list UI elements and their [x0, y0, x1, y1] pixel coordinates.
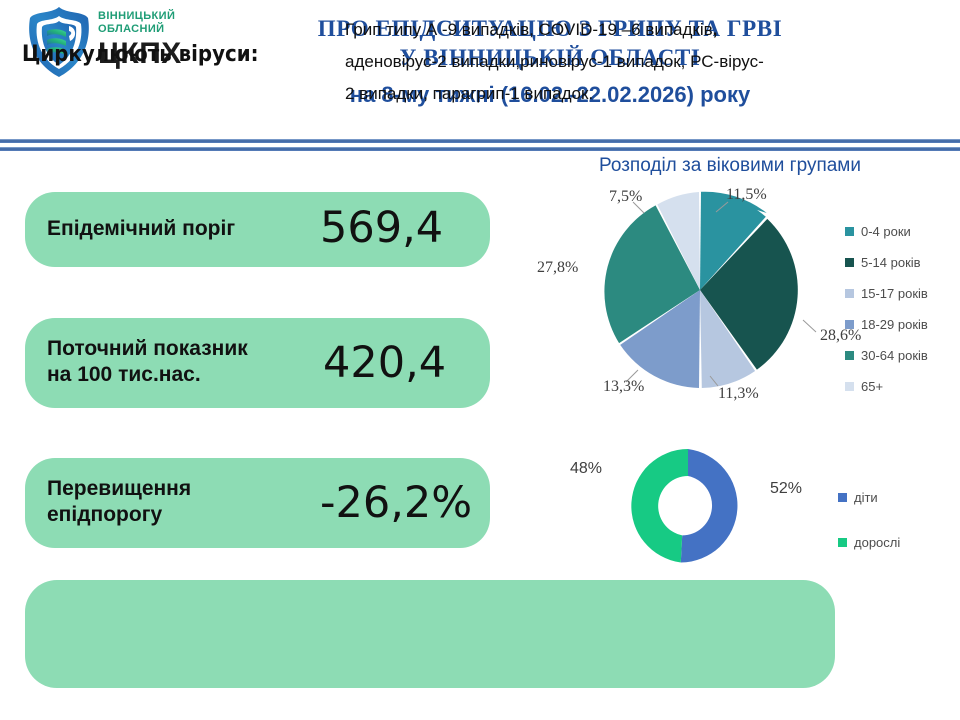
- viruses-text-line-1-part-2: ,: [713, 20, 718, 39]
- legend-swatch-30-64: [845, 351, 854, 360]
- header-divider: [0, 139, 960, 152]
- logo-line-2: ОБЛАСНИЙ: [98, 23, 203, 36]
- pie-label-65plus: 7,5%: [609, 188, 642, 206]
- legend-item-0-4: 0-4 роки: [845, 216, 960, 247]
- donut-slice-children: [681, 449, 738, 563]
- pie-label-15-17: 11,3%: [718, 385, 759, 403]
- donut-label-adults: 48%: [570, 460, 602, 478]
- pie-label-0-4: 11,5%: [726, 186, 767, 204]
- pie-chart-title: Розподіл за віковими групами: [520, 155, 940, 177]
- circulating-viruses-label: Циркулюють віруси:: [22, 42, 259, 67]
- legend-item-18-29: 18-29 років: [845, 309, 960, 340]
- pie-label-18-29: 13,3%: [603, 378, 644, 396]
- stat-card-threshold-excess: Перевищення епідпорогу -26,2%: [25, 458, 490, 548]
- stat-label-threshold-excess: Перевищення епідпорогу: [47, 476, 297, 528]
- circulating-viruses-card: [25, 580, 835, 688]
- legend-item-65plus: 65+: [845, 371, 960, 402]
- legend-swatch-65plus: [845, 382, 854, 391]
- legend-label-65plus: 65+: [861, 379, 883, 394]
- legend-label-18-29: 18-29 років: [861, 317, 928, 332]
- logo-line-1: ВІННИЦЬКИЙ: [98, 10, 203, 23]
- legend-item-adults: дорослі: [838, 520, 948, 565]
- legend-label-30-64: 30-64 років: [861, 348, 928, 363]
- divider-rule-bottom: [0, 147, 960, 151]
- legend-label-15-17: 15-17 років: [861, 286, 928, 301]
- legend-label-0-4: 0-4 роки: [861, 224, 911, 239]
- stat-label-epidemic-threshold: Епідемічний поріг: [47, 216, 235, 242]
- legend-swatch-children: [838, 493, 847, 502]
- stat-value-epidemic-threshold: 569,4: [320, 206, 443, 250]
- children-adults-donut-chart: [628, 446, 748, 566]
- viruses-text-line-1-part-1: Грип типу А -9 випадків, COVID-19 –6 вип…: [345, 20, 713, 39]
- stat-value-current-rate: 420,4: [323, 341, 446, 385]
- legend-item-children: діти: [838, 475, 948, 520]
- stat-label-current-rate-line-1: Поточний показник: [47, 336, 327, 362]
- viruses-text-line-1: Грип типу А -9 випадків, COVID-19 –6 вип…: [345, 14, 960, 46]
- stat-label-threshold-excess-line-2: епідпорогу: [47, 502, 297, 528]
- viruses-text-line-2: аденовірус-2 випадки,риновірус-1 випадок…: [345, 46, 960, 78]
- legend-swatch-5-14: [845, 258, 854, 267]
- donut-chart-legend: діти дорослі: [838, 475, 948, 565]
- viruses-text-line-3: 2 випадки, парагрип-1 випадок.: [345, 78, 960, 110]
- stat-value-threshold-excess: -26,2%: [320, 481, 472, 525]
- legend-swatch-0-4: [845, 227, 854, 236]
- legend-label-children: діти: [854, 490, 878, 505]
- legend-item-30-64: 30-64 років: [845, 340, 960, 371]
- stat-card-current-rate: Поточний показник на 100 тис.нас. 420,4: [25, 318, 490, 408]
- stat-card-epidemic-threshold: Епідемічний поріг 569,4: [25, 192, 490, 267]
- legend-label-adults: дорослі: [854, 535, 900, 550]
- legend-swatch-adults: [838, 538, 847, 547]
- divider-rule-top: [0, 139, 960, 143]
- legend-item-15-17: 15-17 років: [845, 278, 960, 309]
- pie-chart-legend: 0-4 роки 5-14 років 15-17 років 18-29 ро…: [845, 216, 960, 402]
- stat-label-threshold-excess-line-1: Перевищення: [47, 476, 297, 502]
- stat-label-current-rate: Поточний показник на 100 тис.нас.: [47, 336, 327, 388]
- circulating-viruses-text: Грип типу А -9 випадків, COVID-19 –6 вип…: [345, 14, 960, 110]
- legend-item-5-14: 5-14 років: [845, 247, 960, 278]
- donut-slice-adults: [631, 449, 688, 563]
- legend-swatch-18-29: [845, 320, 854, 329]
- pie-label-30-64: 27,8%: [537, 259, 578, 277]
- pie-leader-lines: [520, 180, 860, 410]
- donut-label-children: 52%: [770, 480, 802, 498]
- legend-label-5-14: 5-14 років: [861, 255, 921, 270]
- legend-swatch-15-17: [845, 289, 854, 298]
- stat-label-current-rate-line-2: на 100 тис.нас.: [47, 362, 327, 388]
